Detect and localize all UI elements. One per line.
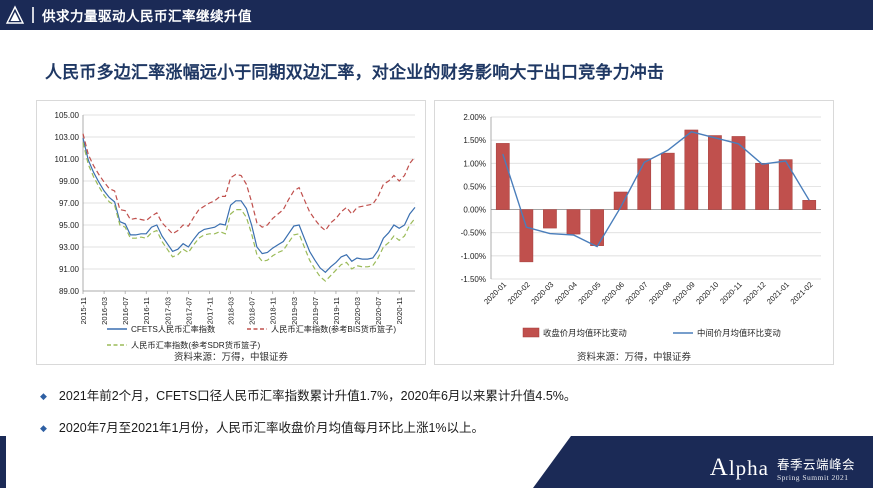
legend-label: 人民币汇率指数(参考BIS货币篮子)	[271, 324, 396, 334]
x-axis-tick-label: 2020-12	[741, 280, 767, 306]
bar	[685, 130, 698, 210]
x-axis-tick-label: 2018-07	[248, 297, 257, 325]
x-axis-tick-label: 2019-03	[290, 297, 299, 325]
x-axis-tick-label: 2018-11	[269, 297, 278, 324]
y-axis-tick-label: -1.00%	[461, 252, 486, 261]
source-right: 资料来源：万得，中银证券	[434, 349, 834, 363]
y-axis-tick-label: 101.00	[55, 155, 80, 164]
y-axis-tick-label: 95.00	[59, 221, 80, 230]
diamond-bullet-icon: ◆	[40, 388, 47, 404]
legend-marker	[523, 328, 539, 337]
x-axis-tick-label: 2020-04	[553, 280, 579, 306]
bar	[520, 210, 533, 262]
y-axis-tick-label: 97.00	[59, 199, 80, 208]
x-axis-tick-label: 2021-02	[789, 280, 815, 306]
bar	[779, 160, 792, 210]
y-axis-tick-label: 93.00	[59, 243, 80, 252]
bar	[543, 210, 556, 229]
summit-label-en: Spring Summit 2021	[777, 473, 855, 482]
x-axis-tick-label: 2016-07	[121, 297, 130, 325]
brand-alpha-initial: A	[710, 454, 729, 481]
bar	[567, 210, 580, 235]
legend-label: 中间价月均值环比变动	[697, 328, 781, 338]
x-axis-tick-label: 2017-03	[163, 297, 172, 325]
slide-header: 供求力量驱动人民币汇率继续升值	[0, 0, 873, 30]
y-axis-tick-label: 105.00	[55, 111, 80, 120]
series-line	[83, 143, 415, 282]
x-axis-tick-label: 2016-11	[142, 297, 151, 324]
y-axis-tick-label: -0.50%	[461, 229, 486, 238]
bar	[708, 136, 721, 210]
x-axis-tick-label: 2020-02	[506, 280, 532, 306]
x-axis-tick-label: 2020-10	[694, 280, 720, 306]
y-axis-tick-label: 103.00	[55, 133, 80, 142]
legend-label: CFETS人民币汇率指数	[131, 324, 215, 334]
y-axis-tick-label: 0.50%	[463, 182, 486, 191]
brand-alpha: Alpha	[710, 454, 769, 482]
x-axis-tick-label: 2020-03	[353, 297, 362, 325]
y-axis-tick-label: 1.00%	[463, 159, 486, 168]
x-axis-tick-label: 2020-07	[374, 297, 383, 325]
y-axis-tick-label: 91.00	[59, 265, 80, 274]
series-line	[83, 134, 415, 234]
bar	[661, 153, 674, 209]
series-line	[83, 138, 415, 272]
summit-label: 春季云端峰会 Spring Summit 2021	[777, 454, 855, 482]
legend-label: 收盘价月均值环比变动	[543, 328, 627, 338]
y-axis-tick-label: 1.50%	[463, 136, 486, 145]
slide-footer: Alpha 春季云端峰会 Spring Summit 2021	[0, 436, 873, 488]
x-axis-tick-label: 2015-11	[79, 297, 88, 324]
header-title: 供求力量驱动人民币汇率继续升值	[42, 5, 252, 25]
x-axis-tick-label: 2017-07	[184, 297, 193, 325]
x-axis-tick-label: 2020-07	[624, 280, 650, 306]
footer-brand: Alpha 春季云端峰会 Spring Summit 2021	[710, 454, 855, 482]
list-item: ◆ 2021年前2个月，CFETS口径人民币汇率指数累计升值1.7%，2020年…	[36, 388, 836, 404]
x-axis-tick-label: 2020-03	[529, 280, 555, 306]
bar	[496, 143, 509, 209]
triangle-logo-icon	[0, 0, 30, 30]
x-axis-tick-label: 2020-11	[718, 280, 744, 306]
footer-left-bar	[0, 436, 6, 488]
y-axis-tick-label: -1.50%	[461, 275, 486, 284]
x-axis-tick-label: 2020-05	[576, 280, 602, 306]
bar	[803, 200, 816, 209]
summit-label-cn: 春季云端峰会	[777, 454, 855, 473]
page-title: 人民币多边汇率涨幅远小于同期双边汇率，对企业的财务影响大于出口竞争力冲击	[45, 58, 845, 83]
y-axis-tick-label: 89.00	[59, 287, 80, 296]
chart-panel-left: 89.0091.0093.0095.0097.0099.00101.00103.…	[36, 100, 426, 365]
chart-panel-right: 2.00%1.50%1.00%0.50%0.00%-0.50%-1.00%-1.…	[434, 100, 834, 365]
bullet-text: 2020年7月至2021年1月份，人民币汇率收盘价月均值每月环比上涨1%以上。	[59, 420, 484, 436]
header-divider	[32, 7, 34, 23]
x-axis-tick-label: 2020-09	[671, 280, 697, 306]
x-axis-tick-label: 2019-07	[311, 297, 320, 325]
y-axis-tick-label: 99.00	[59, 177, 80, 186]
x-axis-tick-label: 2020-06	[600, 280, 626, 306]
x-axis-tick-label: 2020-11	[395, 297, 404, 324]
x-axis-tick-label: 2016-03	[100, 297, 109, 325]
bar	[638, 159, 651, 210]
y-axis-tick-label: 2.00%	[463, 113, 486, 122]
x-axis-tick-label: 2017-11	[205, 297, 214, 324]
x-axis-tick-label: 2020-01	[482, 280, 508, 306]
bullet-text: 2021年前2个月，CFETS口径人民币汇率指数累计升值1.7%，2020年6月…	[59, 388, 576, 404]
y-axis-tick-label: 0.00%	[463, 206, 486, 215]
brand-alpha-rest: lpha	[729, 456, 769, 480]
diamond-bullet-icon: ◆	[40, 420, 47, 436]
bar-line-chart-monthly-change: 2.00%1.50%1.00%0.50%0.00%-0.50%-1.00%-1.…	[435, 101, 833, 364]
bar	[755, 163, 768, 209]
x-axis-tick-label: 2021-01	[765, 280, 791, 306]
list-item: ◆ 2020年7月至2021年1月份，人民币汇率收盘价月均值每月环比上涨1%以上…	[36, 420, 836, 436]
x-axis-tick-label: 2018-03	[227, 297, 236, 325]
line-chart-exchange-index: 89.0091.0093.0095.0097.0099.00101.00103.…	[37, 101, 425, 364]
x-axis-tick-label: 2020-08	[647, 280, 673, 306]
x-axis-tick-label: 2019-11	[332, 297, 341, 324]
source-left: 资料来源：万得，中银证券	[36, 349, 426, 363]
